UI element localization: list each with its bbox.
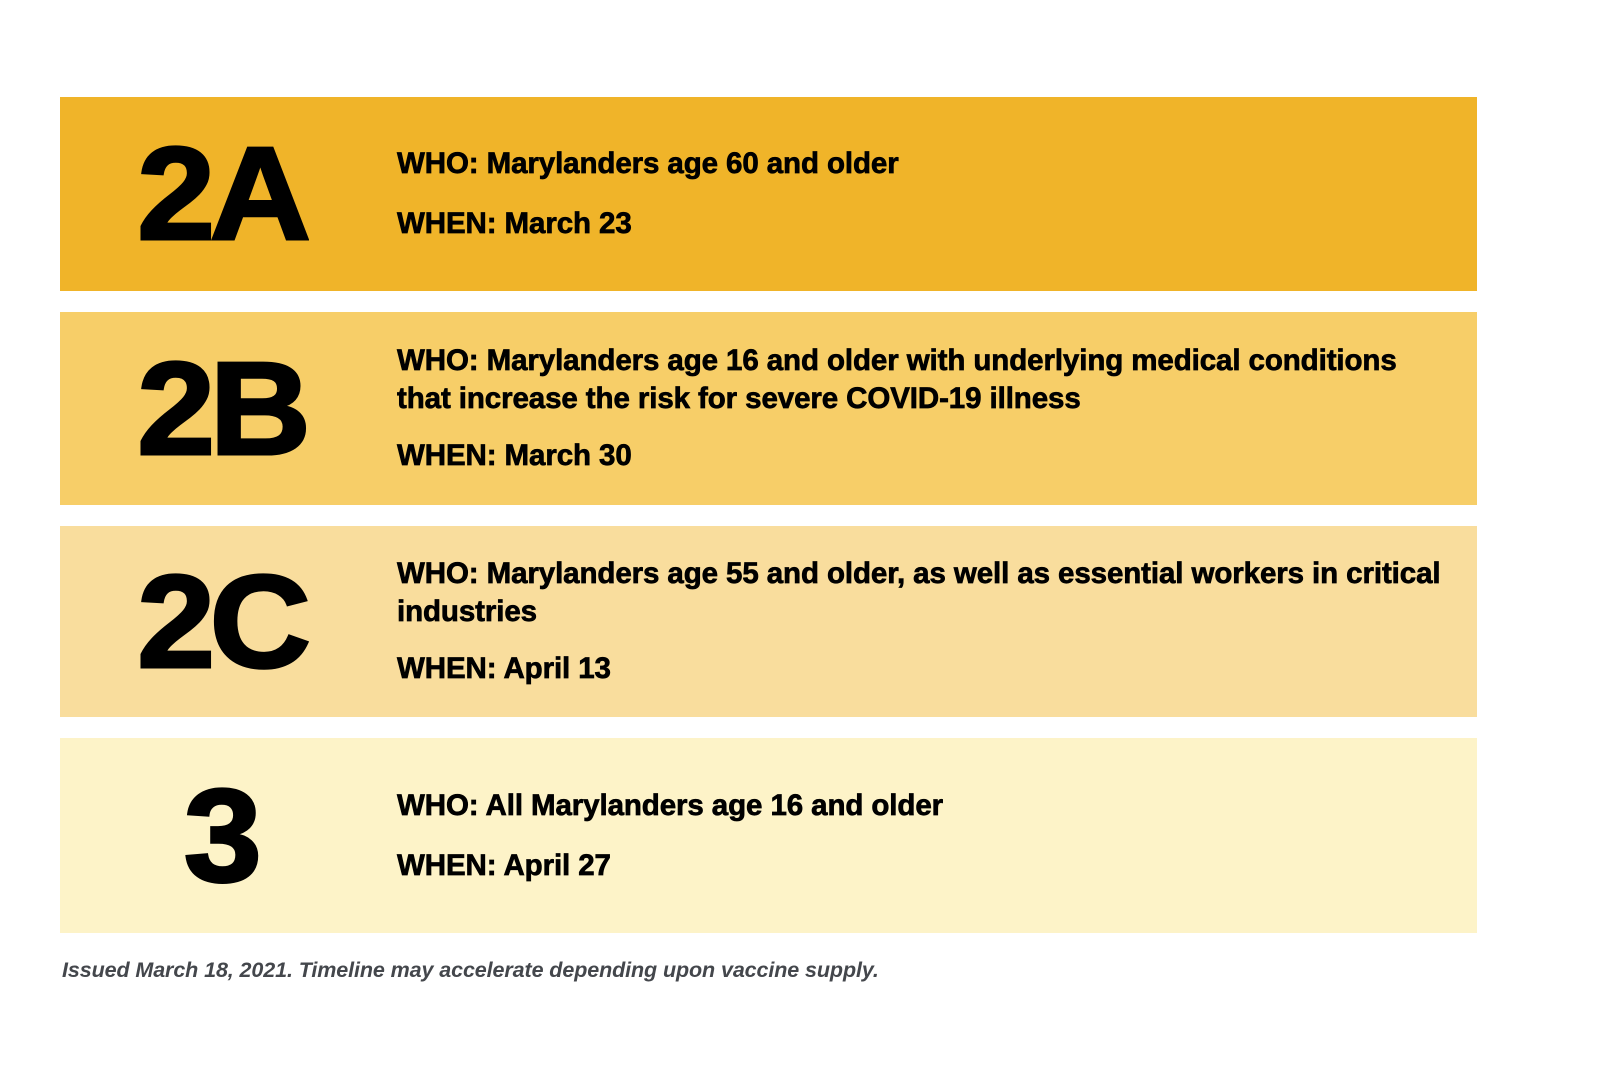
phase-stage-column-2c: 2C [60,526,397,717]
phase-when-line-2a: WHEN: March 23 [397,205,1447,243]
phase-stage-column-2a: 2A [60,97,397,291]
phase-text-column-2a: WHO: Marylanders age 60 and older WHEN: … [397,145,1477,243]
phase-band-list: 2A WHO: Marylanders age 60 and older WHE… [60,97,1477,933]
issued-date-footnote: Issued March 18, 2021. Timeline may acce… [62,957,879,985]
vaccination-phase-timeline-infographic: 2A WHO: Marylanders age 60 and older WHE… [0,0,1600,1073]
phase-text-column-2b: WHO: Marylanders age 16 and older with u… [397,342,1477,475]
phase-band-2c: 2C WHO: Marylanders age 55 and older, as… [60,526,1477,717]
phase-text-column-3: WHO: All Marylanders age 16 and older WH… [397,787,1477,885]
phase-stage-label-2a: 2A [137,137,305,251]
phase-stage-label-2c: 2C [137,565,305,679]
phase-text-column-2c: WHO: Marylanders age 55 and older, as we… [397,555,1477,688]
phase-when-line-2c: WHEN: April 13 [397,650,1447,688]
phase-stage-column-2b: 2B [60,312,397,505]
phase-band-2b: 2B WHO: Marylanders age 16 and older wit… [60,312,1477,505]
phase-who-line-3: WHO: All Marylanders age 16 and older [397,787,1447,825]
phase-who-line-2b: WHO: Marylanders age 16 and older with u… [397,342,1447,418]
phase-when-line-3: WHEN: April 27 [397,847,1447,885]
phase-band-2a: 2A WHO: Marylanders age 60 and older WHE… [60,97,1477,291]
phase-band-3: 3 WHO: All Marylanders age 16 and older … [60,738,1477,933]
phase-stage-column-3: 3 [60,738,397,933]
phase-who-line-2c: WHO: Marylanders age 55 and older, as we… [397,555,1447,631]
phase-stage-label-3: 3 [184,779,260,893]
phase-stage-label-2b: 2B [137,352,305,466]
phase-who-line-2a: WHO: Marylanders age 60 and older [397,145,1447,183]
phase-when-line-2b: WHEN: March 30 [397,437,1447,475]
